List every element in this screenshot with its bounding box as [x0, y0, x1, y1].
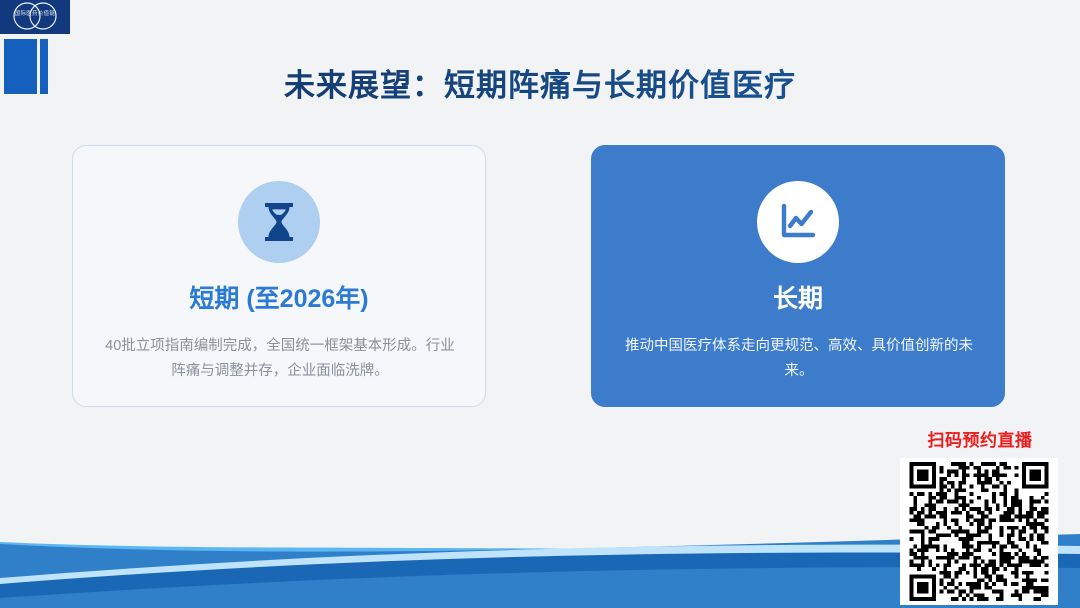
line-chart-icon — [757, 181, 839, 263]
hourglass-icon — [238, 181, 320, 263]
page-title: 未来展望：短期阵痛与长期价值医疗 — [0, 66, 1080, 106]
hourglass-glyph — [259, 200, 299, 244]
qr-caption: 扫码预约直播 — [897, 430, 1063, 452]
card-long-term: 长期 推动中国医疗体系走向更规范、高效、具价值创新的未来。 — [591, 145, 1005, 407]
card-short-term: 短期 (至2026年) 40批立项指南编制完成，全国统一框架基本形成。行业阵痛与… — [72, 145, 486, 407]
card-long-term-body: 推动中国医疗体系走向更规范、高效、具价值创新的未来。 — [620, 334, 978, 384]
slide-root: 国际医药价值链 未来展望：短期阵痛与长期价值医疗 短期 (至2026年) 40批… — [0, 0, 1080, 608]
logo-badge: 国际医药价值链 — [0, 0, 70, 34]
qr-code-matrix — [904, 462, 1054, 601]
card-short-term-title: 短期 (至2026年) — [73, 282, 485, 316]
line-chart-glyph — [776, 200, 820, 244]
card-long-term-title: 长期 — [592, 282, 1004, 316]
qr-code-icon[interactable] — [900, 458, 1058, 605]
card-short-term-body: 40批立项指南编制完成，全国统一框架基本形成。行业阵痛与调整并存，企业面临洗牌。 — [101, 334, 459, 384]
qr-block: 扫码预约直播 — [897, 430, 1063, 605]
logo-badge-text: 国际医药价值链 — [0, 11, 70, 18]
